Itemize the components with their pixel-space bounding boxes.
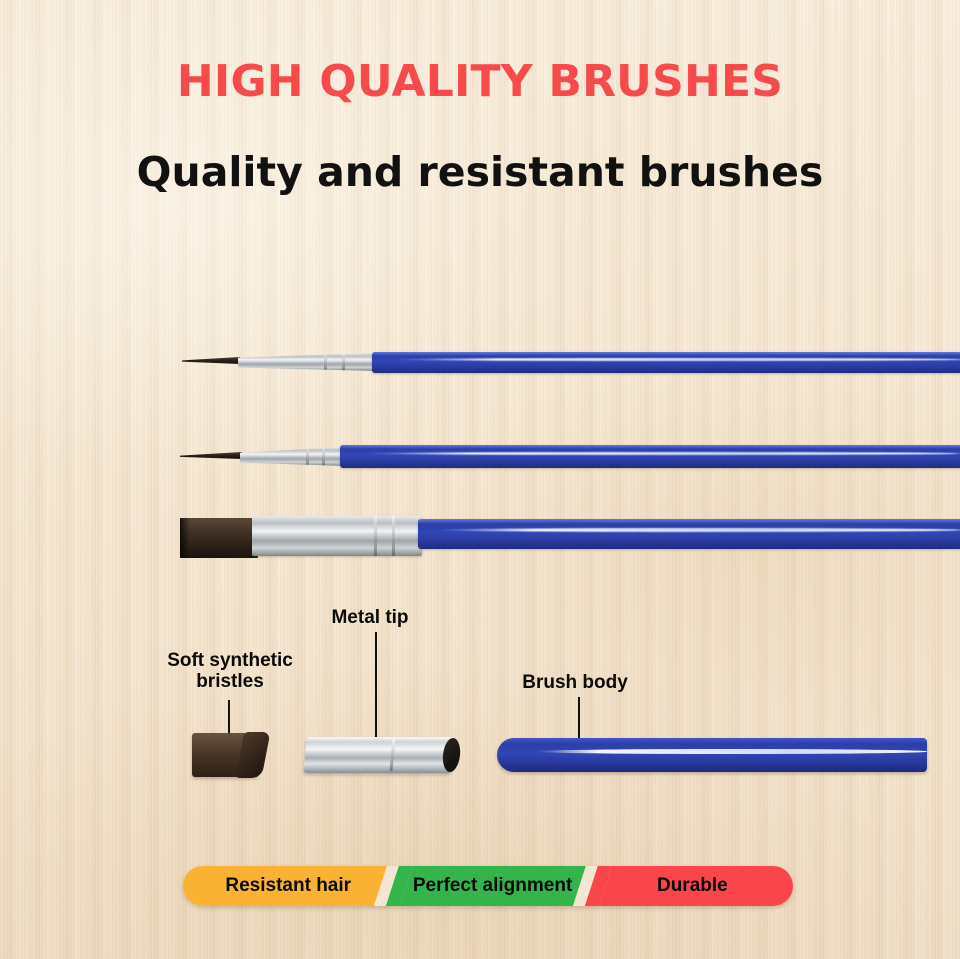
bristle-tip-icon <box>180 518 258 558</box>
page-title: HIGH QUALITY BRUSHES <box>0 56 960 107</box>
brush-handle <box>418 519 960 549</box>
wood-shading <box>0 0 960 959</box>
ferrule <box>252 516 422 556</box>
feature-badge-resistant-hair[interactable]: Resistant hair <box>183 866 393 906</box>
product-infographic: HIGH QUALITY BRUSHES Quality and resista… <box>0 0 960 959</box>
brush-handle <box>372 352 960 373</box>
callout-label-metal-tip: Metal tip <box>290 607 450 628</box>
sample-part-handle <box>497 738 927 772</box>
callout-leader-line <box>375 632 377 742</box>
feature-badge-perfect-alignment[interactable]: Perfect alignment <box>393 866 591 906</box>
sample-part-ferrule <box>303 737 454 773</box>
callout-label-brush-body: Brush body <box>495 672 655 693</box>
feature-badge-bar: Resistant hair Perfect alignment Durable <box>183 866 793 906</box>
brush-handle <box>340 445 960 468</box>
sample-part-bristles <box>192 733 258 777</box>
callout-label-bristles: Soft synthetic bristles <box>140 650 320 693</box>
feature-badge-label: Durable <box>657 875 728 897</box>
feature-badge-label: Perfect alignment <box>413 875 572 897</box>
feature-badge-label: Resistant hair <box>225 875 351 897</box>
callout-leader-line <box>578 697 580 742</box>
feature-badge-durable[interactable]: Durable <box>592 866 793 906</box>
page-subtitle: Quality and resistant brushes <box>0 148 960 196</box>
